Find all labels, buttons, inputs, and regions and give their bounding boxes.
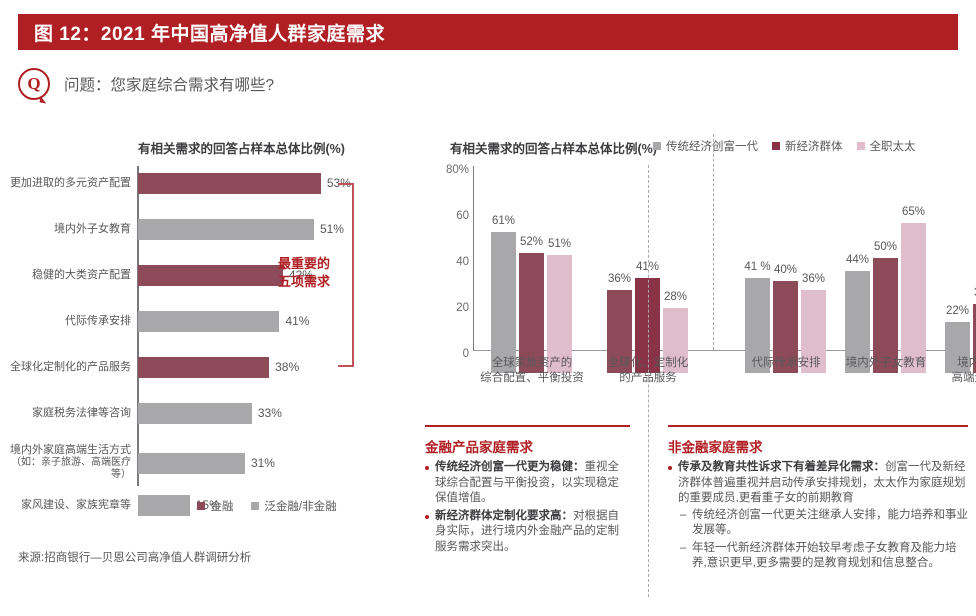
right-chart-bar: 65% [901, 223, 926, 373]
note-bullet: 传承及教育共性诉求下有着差异化需求：创富一代及新经济群体普遍重视并启动传承安排规… [668, 460, 968, 572]
left-chart-bar-row: 更加进取的多元资产配置53% [0, 172, 351, 194]
left-chart-bar-value: 38% [275, 360, 299, 374]
left-chart-bar-row: 境内外子女教育51% [0, 218, 344, 240]
right-bar-chart: 020406080% 61%52%51%36%41%28%41 %40%36%4… [425, 166, 976, 374]
legend-item: 全职太太 [857, 138, 916, 154]
right-chart-bar-value: 22% [946, 305, 969, 317]
legend-label: 泛金融/非金融 [264, 498, 336, 514]
right-chart-bar: 61% [491, 232, 516, 372]
left-chart-bar-label: 代际传承安排 [0, 315, 138, 328]
question-badge-icon: Q [18, 68, 50, 100]
category-label-line1: 境内外家庭 [921, 356, 976, 371]
note-heading: 非金融家庭需求 [668, 436, 968, 456]
right-chart-ytick-label: 60 [456, 210, 469, 222]
left-chart-bar [138, 403, 252, 424]
left-chart-bar [138, 453, 245, 474]
left-chart-bar-label: 稳健的大类资产配置 [0, 269, 138, 282]
left-chart-bar-row: 代际传承安排41% [0, 310, 309, 332]
left-chart-bar-label: 全球化定制化的产品服务 [0, 361, 138, 374]
legend-swatch-icon [197, 502, 205, 510]
note-financial: 金融产品家庭需求 传统经济创富一代更为稳健：重视全球综合配置与平衡投资，以实现稳… [425, 425, 630, 557]
notes-vertical-divider [648, 165, 649, 597]
left-chart-bar-label: 家庭税务法律等咨询 [0, 407, 138, 420]
right-chart-bar-value: 28% [664, 291, 687, 303]
note-nonfinancial: 非金融家庭需求 传承及教育共性诉求下有着差异化需求：创富一代及新经济群体普遍重视… [668, 425, 968, 574]
legend-label: 传统经济创富一代 [666, 138, 758, 154]
legend-label: 全职太太 [870, 138, 916, 154]
note-list: 传承及教育共性诉求下有着差异化需求：创富一代及新经济群体普遍重视并启动传承安排规… [668, 460, 968, 572]
legend-label: 金融 [210, 498, 233, 514]
category-label-line1: 全球家族资产的 [467, 356, 597, 371]
right-chart-title: 有相关需求的回答占样本总体比例(%) [450, 138, 657, 157]
right-chart-bar-value: 52% [520, 236, 543, 248]
legend-item: 金融 [197, 498, 233, 514]
note-bullet-bold: 新经济群体定制化要求高： [435, 510, 573, 522]
right-chart-legend: 传统经济创富一代新经济群体全职太太 [653, 138, 916, 154]
left-chart-bar-value: 31% [251, 456, 275, 470]
legend-swatch-icon [857, 142, 865, 150]
left-chart-bar-label: 家风建设、家族宪章等 [0, 499, 138, 512]
legend-item: 传统经济创富一代 [653, 138, 758, 154]
left-chart-legend: 金融泛金融/非金融 [137, 498, 397, 514]
left-chart-bar-row: 境内外家庭高端生活方式（如：亲子旅游、高端医疗等）31% [0, 448, 275, 478]
right-chart-bar-value: 51% [548, 238, 571, 250]
right-chart-bar-value: 44% [846, 254, 869, 266]
right-chart-category-label: 全球家族资产的综合配置、平衡投资 [467, 356, 597, 386]
callout-line-1: 最重要的 [262, 255, 346, 273]
right-chart-ytick: 0 [425, 350, 469, 368]
right-chart-ytick: 60 [425, 212, 469, 230]
left-chart-bar-label: 境内外家庭高端生活方式（如：亲子旅游、高端医疗等） [0, 444, 138, 482]
left-chart-bar-value: 33% [258, 406, 282, 420]
callout-line-2: 五项需求 [262, 273, 346, 291]
question-text: 问题：您家庭综合需求有哪些? [64, 73, 274, 95]
bracket-top-tip [338, 183, 352, 185]
figure-page: 图 12：2021 年中国高净值人群家庭需求 Q 问题：您家庭综合需求有哪些? … [0, 0, 976, 616]
legend-item: 泛金融/非金融 [251, 498, 336, 514]
page-title: 图 12：2021 年中国高净值人群家庭需求 [18, 19, 385, 46]
right-chart-bar-value: 36% [802, 273, 825, 285]
right-chart-group-divider [713, 134, 714, 350]
bracket-bottom-tip [338, 365, 352, 367]
category-label-line2: 综合配置、平衡投资 [467, 371, 597, 386]
right-chart-bar-value: 36% [608, 273, 631, 285]
right-chart-bar-value: 61% [492, 215, 515, 227]
right-chart-ytick-label: 20 [456, 302, 469, 314]
right-chart-y-axis [473, 166, 474, 350]
legend-swatch-icon [251, 502, 259, 510]
right-chart-bar-value: 50% [874, 241, 897, 253]
right-chart-ytick-label: 40 [456, 256, 469, 268]
right-chart-bar-value: 65% [902, 206, 925, 218]
left-chart-title: 有相关需求的回答占样本总体比例(%) [138, 138, 345, 157]
category-label-line2: 高端生活方式 [921, 371, 976, 386]
legend-label: 新经济群体 [785, 138, 843, 154]
left-chart-bar-row: 家庭税务法律等咨询33% [0, 402, 282, 424]
note-sub-bullet: 年轻一代新经济群体开始较早考虑子女教育及能力培养,意识更早,更多需要的是教育规划… [680, 541, 968, 572]
right-chart-bar-value: 40% [774, 264, 797, 276]
left-bar-chart: 更加进取的多元资产配置53%境内外子女教育51%稳健的大类资产配置42%代际传承… [0, 166, 420, 486]
right-chart-bar: 51% [547, 255, 572, 372]
note-bullet-bold: 传承及教育共性诉求下有着差异化需求： [678, 461, 885, 473]
right-chart-ytick-label: 80% [446, 164, 469, 176]
left-chart-bar-value: 51% [320, 222, 344, 236]
left-chart-bar-sublabel: （如：亲子旅游、高端医疗等） [0, 457, 131, 482]
figure-title-bar: 图 12：2021 年中国高净值人群家庭需求 [18, 14, 958, 50]
left-chart-bar [138, 173, 321, 194]
legend-swatch-icon [772, 142, 780, 150]
left-chart-bar-row: 全球化定制化的产品服务38% [0, 356, 299, 378]
top-five-callout-label: 最重要的 五项需求 [262, 255, 346, 291]
note-bullet-bold: 传统经济创富一代更为稳健： [435, 461, 585, 473]
right-chart-ytick: 80% [425, 166, 469, 184]
left-chart-bar [138, 219, 314, 240]
top-five-bracket [352, 183, 354, 367]
right-chart-bar: 52% [519, 253, 544, 373]
note-bullet: 传统经济创富一代更为稳健：重视全球综合配置与平衡投资，以实现稳定保值增值。 [425, 460, 630, 507]
left-chart-bar-value: 41% [285, 314, 309, 328]
note-list: 传统经济创富一代更为稳健：重视全球综合配置与平衡投资，以实现稳定保值增值。新经济… [425, 460, 630, 555]
note-heading: 金融产品家庭需求 [425, 436, 630, 456]
left-chart-bar-label: 境内外子女教育 [0, 223, 138, 236]
note-sub-bullet: 传统经济创富一代更关注继承人安排，能力培养和事业发展等。 [680, 508, 968, 539]
right-chart-bar-group: 44%50%65% [845, 223, 926, 373]
left-chart-panel: 有相关需求的回答占样本总体比例(%) 更加进取的多元资产配置53%境内外子女教育… [0, 130, 420, 600]
left-chart-bar [138, 357, 269, 378]
right-chart-bar-value: 41 % [744, 261, 770, 273]
legend-item: 新经济群体 [772, 138, 843, 154]
note-sublist: 传统经济创富一代更关注继承人安排，能力培养和事业发展等。年轻一代新经济群体开始较… [678, 508, 968, 572]
left-chart-bar [138, 311, 279, 332]
note-rule [668, 425, 968, 427]
note-bullet: 新经济群体定制化要求高：对根据自身实际，进行境内外金融产品的定制服务需求突出。 [425, 509, 630, 556]
note-rule [425, 425, 630, 427]
source-note: 来源:招商银行—贝恩公司高净值人群调研分析 [18, 549, 251, 565]
right-chart-bar-group: 61%52%51% [491, 232, 572, 372]
question-row: Q 问题：您家庭综合需求有哪些? [18, 68, 274, 100]
left-chart-bar-label: 更加进取的多元资产配置 [0, 177, 138, 190]
right-chart-category-label: 境内外家庭高端生活方式 [921, 356, 976, 386]
legend-swatch-icon [653, 142, 661, 150]
right-chart-ytick: 20 [425, 304, 469, 322]
right-chart-ytick: 40 [425, 258, 469, 276]
